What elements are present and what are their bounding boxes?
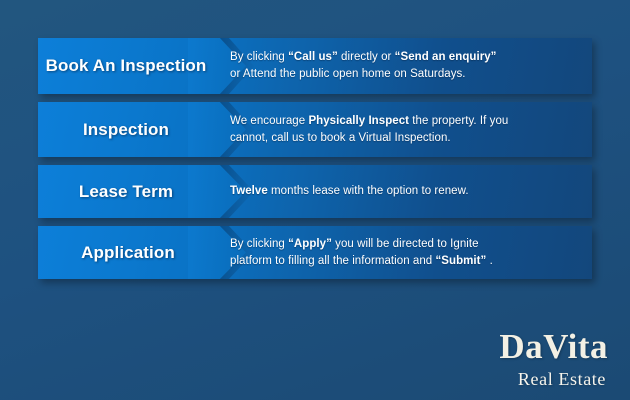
process-step-row: Inspection We encourage Physically Inspe… [38,102,592,157]
plain-text: By clicking [230,51,288,63]
description-line: platform to filling all the information … [230,253,580,270]
slide-canvas: Book An Inspection By clicking “Call us”… [0,0,630,400]
plain-text: cannot, call us to book a Virtual Inspec… [230,132,451,144]
step-description: We encourage Physically Inspect the prop… [230,102,580,157]
process-step-row: Book An Inspection By clicking “Call us”… [38,38,592,94]
emphasis-text: “Call us” [288,51,338,63]
step-description: By clicking “Apply” you will be directed… [230,226,580,279]
process-step-row: Application By clicking “Apply” you will… [38,226,592,279]
plain-text: We encourage [230,115,308,127]
description-line: or Attend the public open home on Saturd… [230,66,580,83]
plain-text: you will be directed to Ignite [332,238,479,250]
step-label: Lease Term [38,165,214,218]
emphasis-text: “Submit” [435,255,486,267]
description-line: We encourage Physically Inspect the prop… [230,113,580,130]
plain-text: directly or [338,51,395,63]
description-line: By clicking “Call us” directly or “Send … [230,49,580,66]
step-label: Book An Inspection [38,38,214,94]
emphasis-text: “Apply” [288,238,332,250]
description-line: By clicking “Apply” you will be directed… [230,236,580,253]
emphasis-text: Physically Inspect [308,115,409,127]
plain-text: or Attend the public open home on Saturd… [230,68,466,80]
step-description: Twelve months lease with the option to r… [230,165,580,218]
plain-text: months lease with the option to renew. [268,185,469,197]
step-description: By clicking “Call us” directly or “Send … [230,38,580,94]
plain-text: . [486,255,493,267]
brand-name: DaVita [499,329,608,364]
step-label: Application [38,226,218,279]
emphasis-text: Twelve [230,185,268,197]
emphasis-text: “Send an enquiry” [395,51,497,63]
brand-logo: DaVita Real Estate [499,329,608,388]
brand-tagline: Real Estate [499,370,606,388]
description-line: Twelve months lease with the option to r… [230,183,580,200]
process-step-row: Lease Term Twelve months lease with the … [38,165,592,218]
plain-text: the property. If you [409,115,508,127]
step-label: Inspection [38,102,214,157]
description-line: cannot, call us to book a Virtual Inspec… [230,130,580,147]
plain-text: platform to filling all the information … [230,255,435,267]
plain-text: By clicking [230,238,288,250]
